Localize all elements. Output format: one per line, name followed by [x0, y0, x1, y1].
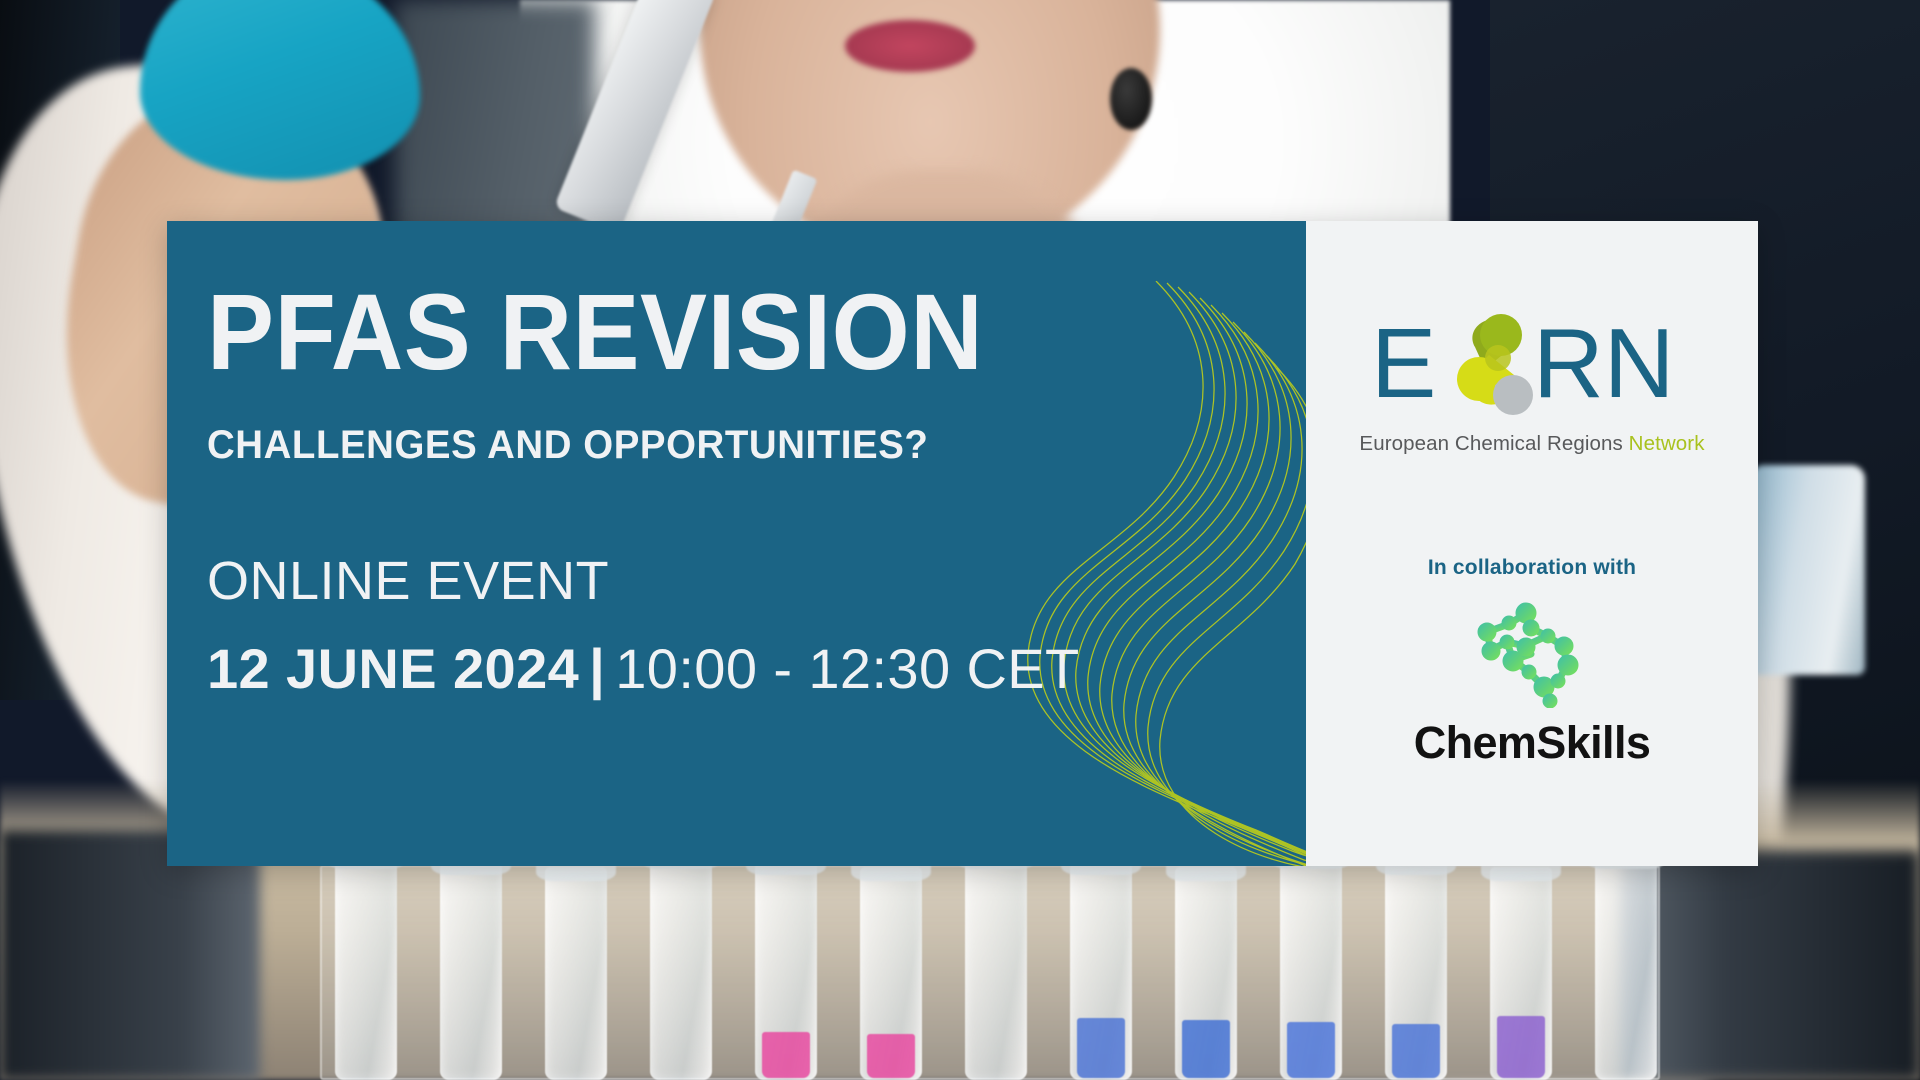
technician-lips [845, 20, 975, 72]
collaboration-label: In collaboration with [1428, 556, 1636, 580]
ecrn-molecule-c-icon [1457, 314, 1533, 415]
chemskills-brain-network-icon [1469, 602, 1595, 708]
sample-tube [440, 861, 502, 1080]
sample-tube-liquid [1077, 1018, 1125, 1078]
sample-tube-liquid [1287, 1022, 1335, 1078]
sample-tube-liquid [762, 1032, 810, 1078]
sample-tube-liquid [1182, 1020, 1230, 1078]
event-date: 12 JUNE 2024 [207, 637, 579, 700]
event-title: PFAS REVISION [207, 277, 1229, 387]
ecrn-logo: E RN European Chemical Regions Network [1359, 313, 1704, 456]
chemskills-logo: ChemSkills [1414, 602, 1651, 769]
event-announcement-card: PFAS REVISION CHALLENGES AND OPPORTUNITI… [167, 221, 1758, 866]
sample-tube-liquid [1497, 1016, 1545, 1078]
chemskills-wordmark: ChemSkills [1414, 717, 1651, 769]
sample-tube [1280, 855, 1342, 1080]
ecrn-tagline-accent: Network [1629, 432, 1705, 455]
sample-tube [650, 855, 712, 1080]
sample-tube [860, 867, 922, 1080]
event-card-side-panel: E RN European Chemical Regions Network I… [1306, 221, 1758, 866]
svg-text:RN: RN [1533, 313, 1675, 417]
svg-text:E: E [1371, 313, 1436, 417]
reagent-bottle [1750, 465, 1865, 675]
ecrn-tagline-main: European Chemical Regions [1359, 432, 1628, 455]
sample-tube [1175, 867, 1237, 1080]
event-subtitle: CHALLENGES AND OPPORTUNITIES? [207, 423, 1262, 468]
event-time: 10:00 - 12:30 CET [615, 637, 1079, 700]
ecrn-wordmark-icon: E RN [1367, 313, 1697, 417]
sample-tube [1070, 861, 1132, 1080]
sample-tube [335, 855, 397, 1080]
event-card-main-panel: PFAS REVISION CHALLENGES AND OPPORTUNITI… [167, 221, 1306, 866]
sample-tube-liquid [1392, 1024, 1440, 1078]
sample-tube [755, 861, 817, 1080]
technician-earring [1110, 68, 1152, 130]
event-format: ONLINE EVENT [207, 550, 1306, 612]
sample-tube [965, 855, 1027, 1080]
sample-tube-liquid [867, 1034, 915, 1078]
blue-nitrile-glove [140, 0, 420, 180]
lab-bench-shadow-left [0, 830, 260, 1080]
sample-tube [1595, 855, 1657, 1080]
sample-tube [545, 867, 607, 1080]
ecrn-tagline: European Chemical Regions Network [1359, 432, 1704, 456]
event-datetime: 12 JUNE 2024|10:00 - 12:30 CET [207, 636, 1306, 701]
event-text-block: PFAS REVISION CHALLENGES AND OPPORTUNITI… [207, 277, 1306, 701]
event-datetime-separator: | [579, 637, 615, 700]
sample-tube [1385, 861, 1447, 1080]
sample-tube [1490, 867, 1552, 1080]
